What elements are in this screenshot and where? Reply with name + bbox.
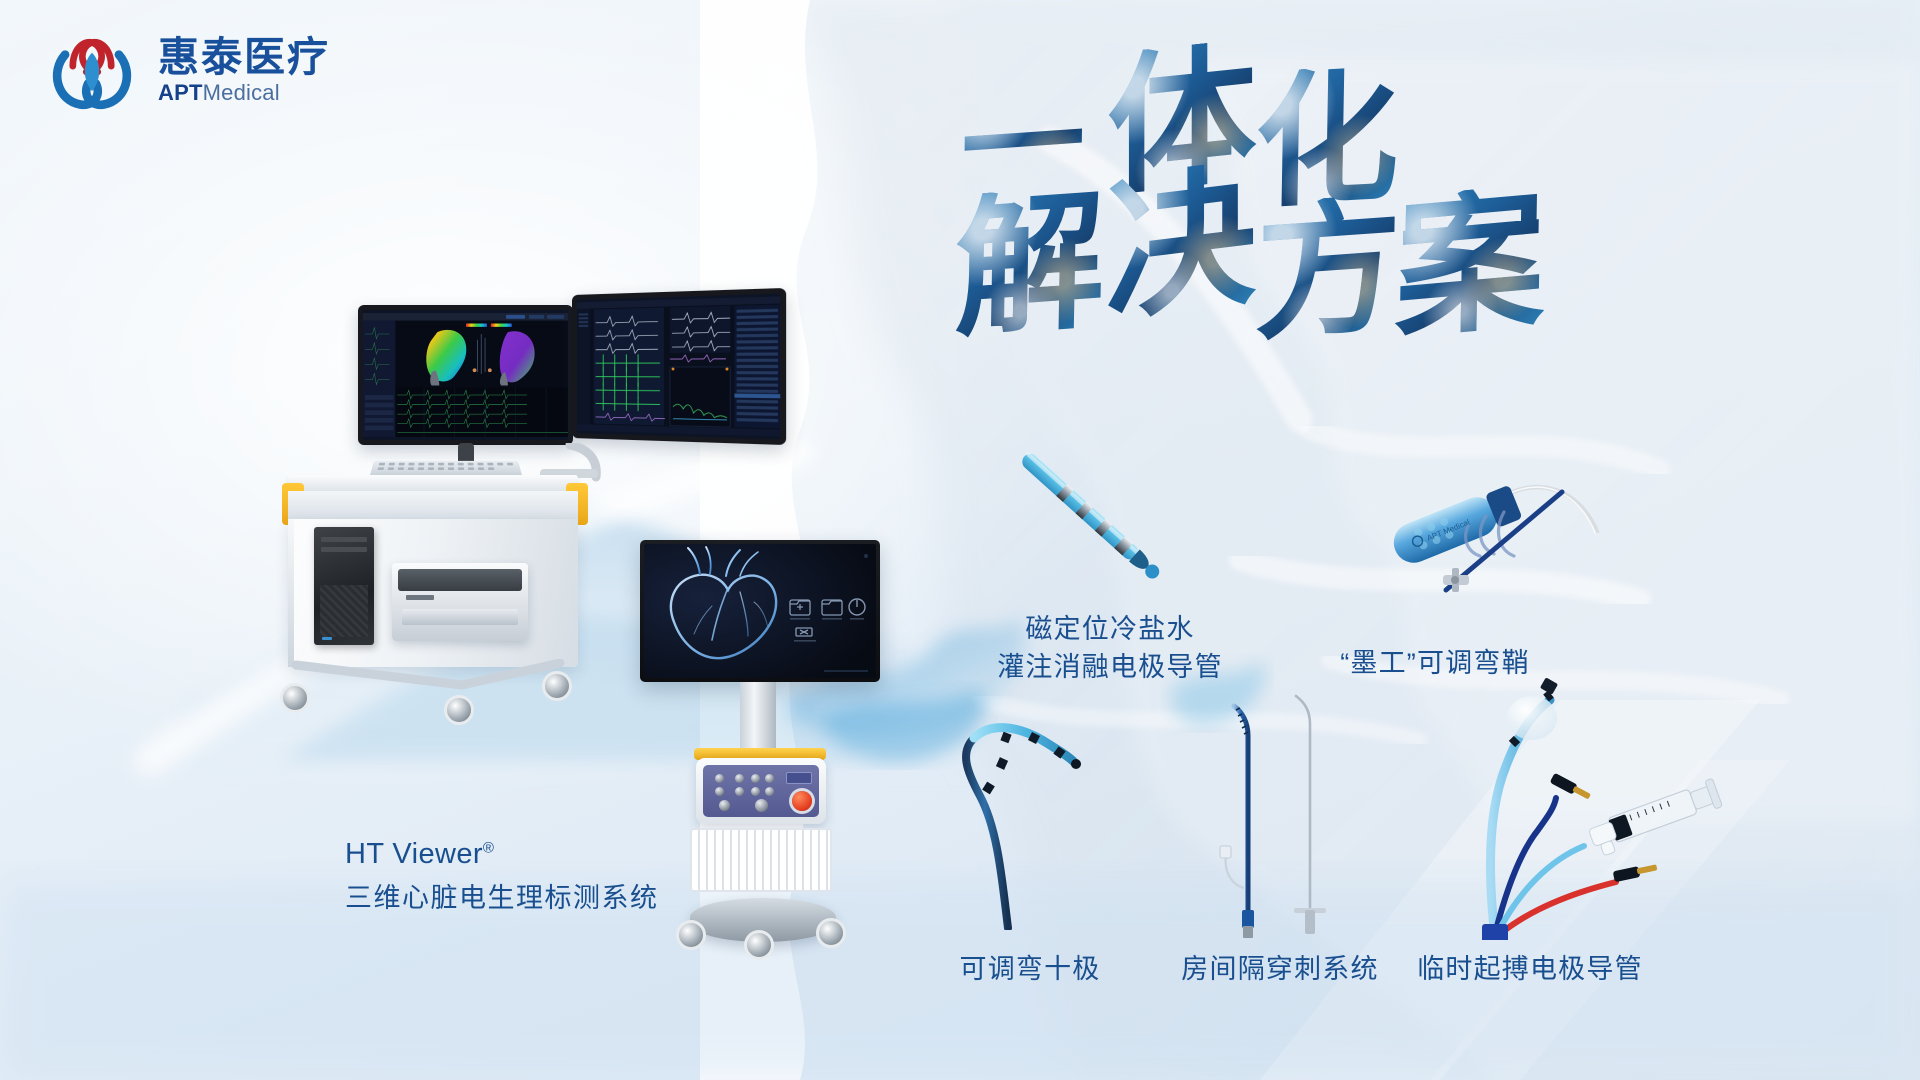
headline-calligraphy: 一 体 化 解 决 方 案 — [955, 40, 1615, 340]
accessory-basket — [690, 828, 832, 892]
ablation-catheter-icon — [990, 440, 1200, 600]
heart-anatomy-screen — [644, 544, 876, 678]
computer-tower-icon — [314, 527, 374, 645]
ht-viewer-label: HT Viewer® 三维心脏电生理标测系统 — [345, 838, 659, 915]
headline-char-6: 方 — [1254, 193, 1402, 350]
pacing-catheter-icon — [1480, 670, 1760, 940]
headline-char-5: 决 — [1106, 158, 1257, 330]
display-cart — [640, 540, 900, 1040]
cart-casters — [274, 665, 592, 731]
ep-recording-screen — [577, 294, 780, 440]
transseptal-needle-icon — [1200, 670, 1370, 940]
brand-name-cn: 惠泰医疗 — [158, 36, 330, 79]
pacing-catheter-label-line1: 临时起搏电极导管 — [1370, 950, 1690, 988]
heart-display-monitor — [640, 540, 880, 682]
steerable-sheath-icon: APT Medical — [1390, 430, 1680, 620]
headline-char-7: 案 — [1394, 183, 1546, 347]
right-monitor — [572, 288, 786, 445]
cart-desk-body — [288, 491, 578, 519]
poster-canvas: 惠泰医疗 APTMedical 一 体 化 解 决 方 案 — [0, 0, 1920, 1080]
pacing-catheter-label: 临时起搏电极导管 — [1370, 950, 1690, 988]
caster-wheel — [744, 930, 774, 960]
headline-char-4: 解 — [954, 184, 1106, 345]
trademark-symbol: ® — [483, 839, 494, 856]
printer-icon — [392, 563, 528, 641]
ablation-catheter-label-line1: 磁定位冷盐水 — [960, 610, 1260, 648]
ht-viewer-name-cn: 三维心脏电生理标测系统 — [345, 876, 659, 915]
brand-medical-text: Medical — [203, 80, 280, 105]
display-cart-base — [674, 892, 850, 946]
decapolar-catheter-icon — [940, 700, 1120, 930]
display-cart-pole — [740, 682, 776, 754]
left-monitor — [358, 305, 573, 445]
3d-cardiac-map-screen — [363, 310, 568, 440]
ht-viewer-name-en: HT Viewer® — [345, 838, 659, 871]
keyboard-icon — [370, 461, 522, 476]
cart-desktop — [288, 475, 578, 491]
red-round-button-icon[interactable] — [792, 791, 812, 811]
apt-medical-logo-icon — [44, 22, 140, 118]
ht-viewer-name-text: HT Viewer — [345, 838, 483, 870]
caster-wheel — [816, 918, 846, 948]
patient-interface-unit-icon — [696, 758, 826, 824]
caster-wheel — [676, 920, 706, 950]
brand-logo: 惠泰医疗 APTMedical — [44, 22, 330, 118]
brand-apt-text: APT — [158, 80, 203, 105]
brand-name-en: APTMedical — [158, 82, 330, 104]
